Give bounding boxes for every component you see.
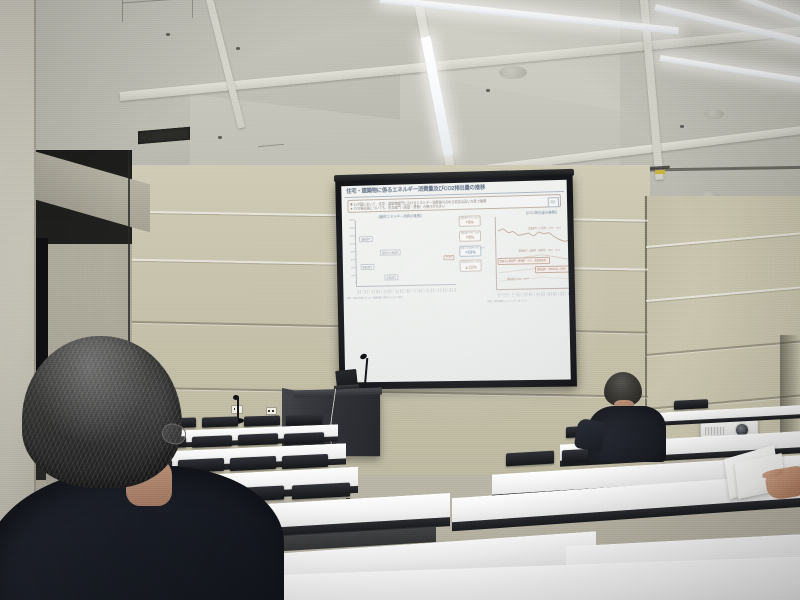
y-tick: 16000 [346, 220, 355, 223]
bullet-icon [350, 203, 352, 205]
slide-content: 住宅・建築物に係るエネルギー消費量及びCO2排出量の推移 わが国において、住宅・… [341, 180, 571, 383]
band-label-household: 家庭部門 [361, 264, 374, 270]
y-tick: 6000 [347, 259, 356, 262]
chair-back[interactable] [292, 482, 350, 499]
ceiling-sensor-2 [236, 47, 240, 50]
stacked-bars [356, 218, 456, 286]
left-chart-plot: 16000 14000 12000 10000 8000 6000 4000 2… [355, 218, 456, 287]
slide-right-chart: 【CO2排出量の推移】 産業部門（工場等） 1990→2013 運輸部門（自動車… [486, 208, 571, 377]
attendee-foreground-hair [22, 336, 182, 488]
right-chart-box-2: 家庭部門（1990年比 +30%） [535, 265, 570, 272]
y-tick: 4000 [347, 267, 356, 270]
slide-callout-2: 運輸部門 1973→2013+5% [459, 230, 481, 242]
y-tick: 14000 [346, 228, 355, 231]
projector-vent [705, 427, 725, 435]
ceiling-sensor-1 [166, 33, 170, 36]
outlet-hole [272, 410, 274, 412]
slide-body: 【最終エネルギー消費の推移】 16000 14000 12000 10000 8… [345, 209, 568, 379]
y-tick: 8000 [347, 251, 356, 254]
band-label-transport: 運輸部門 [359, 236, 372, 242]
band-label-industry: 産業部門 [384, 274, 398, 280]
ceiling-track-marker [655, 170, 665, 174]
lecture-room-photo: 住宅・建築物に係るエネルギー消費量及びCO2排出量の推移 わが国において、住宅・… [0, 0, 800, 600]
chair-back[interactable] [286, 414, 322, 425]
ceiling-sensor-4 [680, 125, 684, 128]
band-label-commercial: 業務その他部門 [380, 249, 401, 255]
slide-page-badge: 02 [547, 197, 558, 207]
callout-stack: 産業部門 1973→2013+5%運輸部門 1973→2013+5%業務その他部… [459, 215, 482, 271]
projection-screen-surface: 住宅・建築物に係るエネルギー消費量及びCO2排出量の推移 わが国において、住宅・… [341, 180, 571, 383]
y-tick: 10000 [346, 243, 355, 246]
x-axis-tick: 2013 [454, 285, 456, 294]
callout-value: +33% [461, 249, 480, 254]
callout-value: ▲11% [461, 264, 480, 269]
ceiling-hatch-outline-3 [192, 0, 193, 18]
callout-column: 産業部門 1973→2013+5%運輸部門 1973→2013+5%業務その他部… [459, 211, 486, 378]
slide-callout-4: 家庭部門 1973→2013▲11% [460, 260, 482, 272]
chair-back[interactable] [284, 432, 324, 445]
wall-door-edge [780, 335, 800, 445]
outlet-hole [268, 410, 270, 412]
ceiling-hatch-outline-2 [122, 0, 123, 22]
attendee-middle [588, 372, 668, 462]
attendee-middle-arm [574, 418, 607, 452]
y-tick: 0 [347, 282, 356, 285]
chair-back[interactable] [674, 399, 708, 410]
ceiling-speaker-1 [499, 66, 527, 79]
callout-value: +5% [460, 220, 479, 225]
right-chart-box-1: 業務その他部門（事務所・ビル、商業施設等） [498, 257, 551, 265]
y-tick: 12000 [346, 235, 355, 238]
callout-value: +5% [460, 234, 479, 239]
ceiling-sensor-3 [486, 89, 490, 92]
attendee-foreground [18, 318, 268, 600]
right-chart-note-1: 産業部門（工場等） 1990→2013 [528, 225, 561, 230]
bullet-icon [350, 207, 352, 209]
slide-callout-3: 業務その他部門 1973→2013+33% [459, 245, 481, 257]
right-chart-note-3: 家庭部門 1990→2013 [507, 276, 529, 280]
ceiling-sensor-5 [218, 136, 222, 139]
chair-back[interactable] [282, 454, 328, 469]
inline-share-tag: 33.5% [444, 255, 455, 260]
x-axis-tick: 2003 [569, 289, 571, 298]
y-tick: 2000 [347, 275, 356, 278]
slide-callout-1: 産業部門 1973→2013+5% [459, 215, 481, 227]
ceiling-speaker-2 [704, 109, 724, 119]
projection-screen-frame: 住宅・建築物に係るエネルギー消費量及びCO2排出量の推移 わが国において、住宅・… [335, 175, 577, 390]
right-chart-plot: 産業部門（工場等） 1990→2013 運輸部門（自動車・船舶等） 1990→2… [495, 214, 571, 290]
